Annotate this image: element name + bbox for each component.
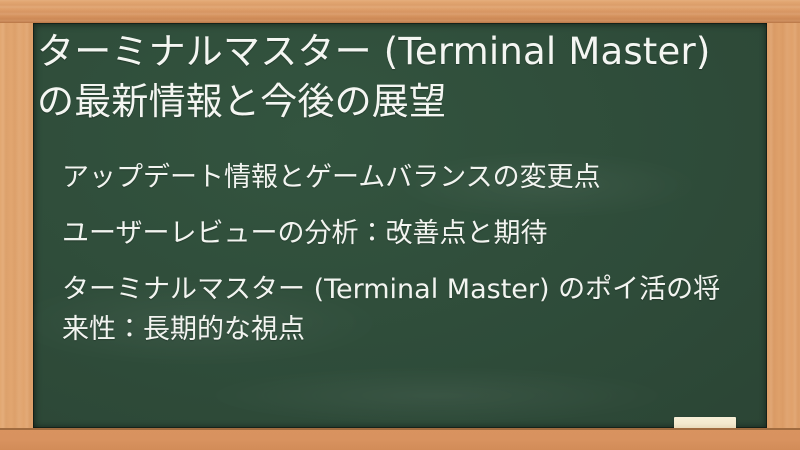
- board-content: ターミナルマスター (Terminal Master) の最新情報と今後の展望 …: [33, 23, 767, 350]
- page-title: ターミナルマスター (Terminal Master) の最新情報と今後の展望: [35, 27, 743, 127]
- chalkboard-surface: ターミナルマスター (Terminal Master) の最新情報と今後の展望 …: [33, 23, 767, 428]
- list-item: ターミナルマスター (Terminal Master) のポイ活の将来性：長期的…: [62, 270, 725, 350]
- wooden-frame-top-rail: [0, 0, 800, 23]
- chalk-eraser-icon: [674, 417, 736, 428]
- list-item: ユーザーレビューの分析：改善点と期待: [62, 214, 725, 254]
- topic-list: アップデート情報とゲームバランスの変更点 ユーザーレビューの分析：改善点と期待 …: [35, 158, 743, 350]
- blackboard-card: ターミナルマスター (Terminal Master) の最新情報と今後の展望 …: [0, 0, 800, 450]
- list-item: アップデート情報とゲームバランスの変更点: [62, 158, 725, 198]
- wooden-frame-bottom-ledge: [0, 428, 800, 450]
